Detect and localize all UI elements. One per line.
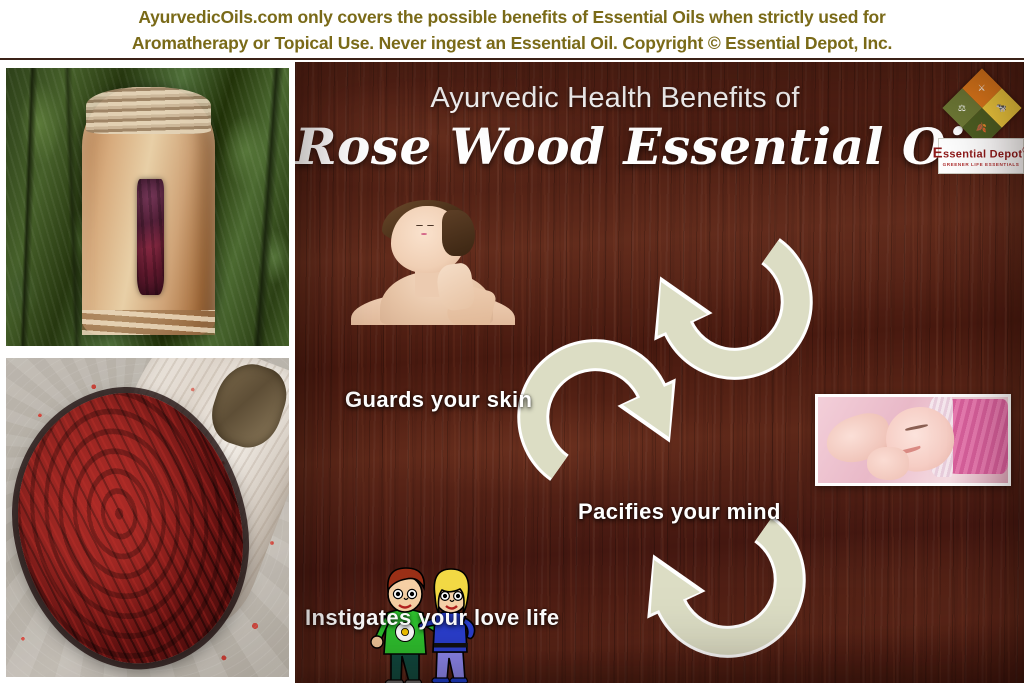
disclaimer-line-1: AyurvedicOils.com only covers the possib… — [138, 4, 885, 30]
brand-name-rest: ssential Depot — [943, 149, 1022, 161]
rosewood-tree-trunk-photo — [6, 68, 289, 346]
page-subtitle: Ayurvedic Health Benefits of — [295, 82, 935, 115]
disclaimer-line-2: Aromatherapy or Topical Use. Never inges… — [132, 30, 892, 56]
red-log-face-shape — [6, 377, 261, 677]
woman-eye-left — [416, 225, 423, 227]
rosewood-log-cross-section-photo — [6, 358, 289, 677]
purple-heartwood-shape — [137, 179, 164, 295]
disclaimer-banner: AyurvedicOils.com only covers the possib… — [0, 0, 1024, 60]
infographic-canvas: AyurvedicOils.com only covers the possib… — [0, 0, 1024, 683]
left-photo-column — [0, 62, 293, 683]
baby-hand — [867, 447, 909, 480]
tree-trunk-shape — [82, 87, 215, 334]
benefit-label-mind: Pacifies your mind — [578, 499, 781, 525]
logo-diamond-icon: ⚔ 🐄 ⚖ 🍂 — [942, 68, 1021, 147]
brand-name: Essential Depot® — [933, 144, 1024, 161]
woman-lips — [421, 233, 428, 235]
brand-name-initial: E — [933, 145, 943, 162]
brand-tagline: GREENER LIFE ESSENTIALS — [943, 161, 1020, 168]
essential-depot-logo[interactable]: ⚔ 🐄 ⚖ 🍂 Essential Depot® GREENER LIFE ES… — [942, 80, 1022, 190]
benefit-label-skin: Guards your skin — [345, 387, 532, 413]
woman-eye-right — [427, 225, 434, 227]
logo-nameplate: Essential Depot® GREENER LIFE ESSENTIALS — [938, 138, 1024, 174]
woman-skincare-photo — [340, 197, 522, 325]
woman-hair-side — [442, 210, 475, 256]
wood-background-panel: Ayurvedic Health Benefits of Rose Wood E… — [295, 62, 1024, 683]
page-title: Rose Wood Essential Oil — [295, 117, 935, 176]
benefit-label-love: Instigates your love life — [305, 605, 560, 631]
sleeping-baby-photo — [815, 394, 1011, 486]
